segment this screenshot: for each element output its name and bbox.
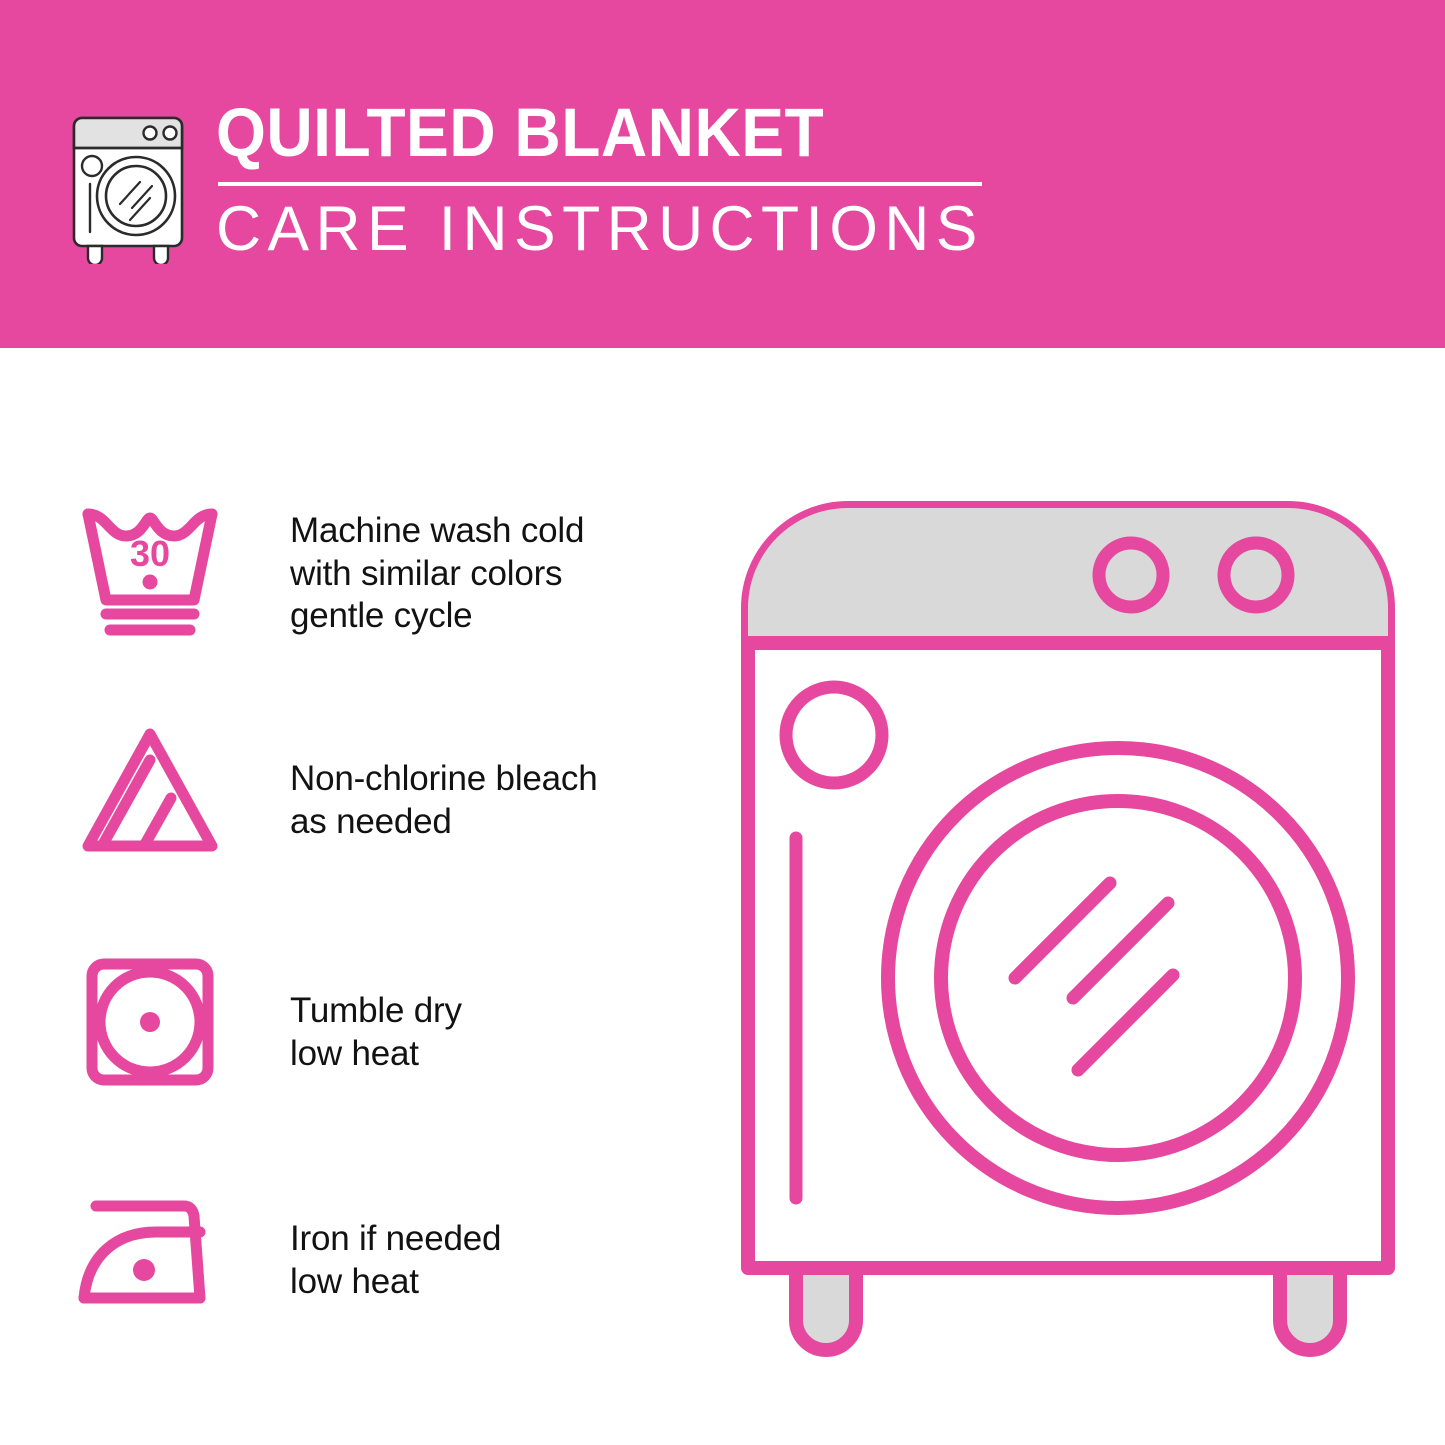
header-content: QUILTED BLANKET CARE INSTRUCTIONS bbox=[62, 98, 992, 264]
care-row-iron: Iron if needed low heat bbox=[66, 1178, 686, 1408]
iron-low-heat-symbol bbox=[66, 1178, 234, 1328]
machine-wash-30-gentle-symbol: 30 bbox=[66, 488, 234, 638]
care-label-line: Machine wash cold bbox=[290, 510, 584, 553]
care-label-iron: Iron if needed low heat bbox=[290, 1178, 501, 1303]
care-label-line: Tumble dry bbox=[290, 990, 462, 1033]
care-label-line: low heat bbox=[290, 1033, 462, 1076]
care-label-line: Iron if needed bbox=[290, 1218, 501, 1261]
care-label-wash: Machine wash cold with similar colors ge… bbox=[290, 488, 584, 638]
care-label-line: as needed bbox=[290, 801, 598, 844]
washing-machine-icon bbox=[62, 104, 194, 264]
care-label-line: low heat bbox=[290, 1261, 501, 1304]
header-text-block: QUILTED BLANKET CARE INSTRUCTIONS bbox=[216, 98, 992, 261]
care-label-line: with similar colors bbox=[290, 553, 584, 596]
non-chlorine-bleach-symbol bbox=[66, 718, 234, 868]
wash-temperature-label: 30 bbox=[130, 533, 170, 574]
care-row-bleach: Non-chlorine bleach as needed bbox=[66, 718, 686, 948]
care-label-tumble-dry: Tumble dry low heat bbox=[290, 948, 462, 1075]
care-label-line: gentle cycle bbox=[290, 595, 584, 638]
care-row-tumble-dry: Tumble dry low heat bbox=[66, 948, 686, 1178]
title-divider bbox=[218, 182, 982, 186]
machine-foot-left bbox=[796, 1268, 856, 1350]
machine-foot-right bbox=[1280, 1268, 1340, 1350]
header-banner: QUILTED BLANKET CARE INSTRUCTIONS bbox=[0, 0, 1445, 348]
care-label-line: Non-chlorine bleach bbox=[290, 758, 598, 801]
care-instructions-list: 30 Machine wash cold with similar colors… bbox=[66, 488, 686, 1408]
tumble-dry-low-symbol bbox=[66, 948, 234, 1098]
large-washing-machine-illustration bbox=[718, 478, 1418, 1378]
page-title: QUILTED BLANKET bbox=[216, 98, 937, 168]
care-row-wash: 30 Machine wash cold with similar colors… bbox=[66, 488, 686, 718]
content-area: 30 Machine wash cold with similar colors… bbox=[0, 348, 1445, 1445]
care-label-bleach: Non-chlorine bleach as needed bbox=[290, 718, 598, 843]
page-subtitle: CARE INSTRUCTIONS bbox=[216, 198, 984, 261]
